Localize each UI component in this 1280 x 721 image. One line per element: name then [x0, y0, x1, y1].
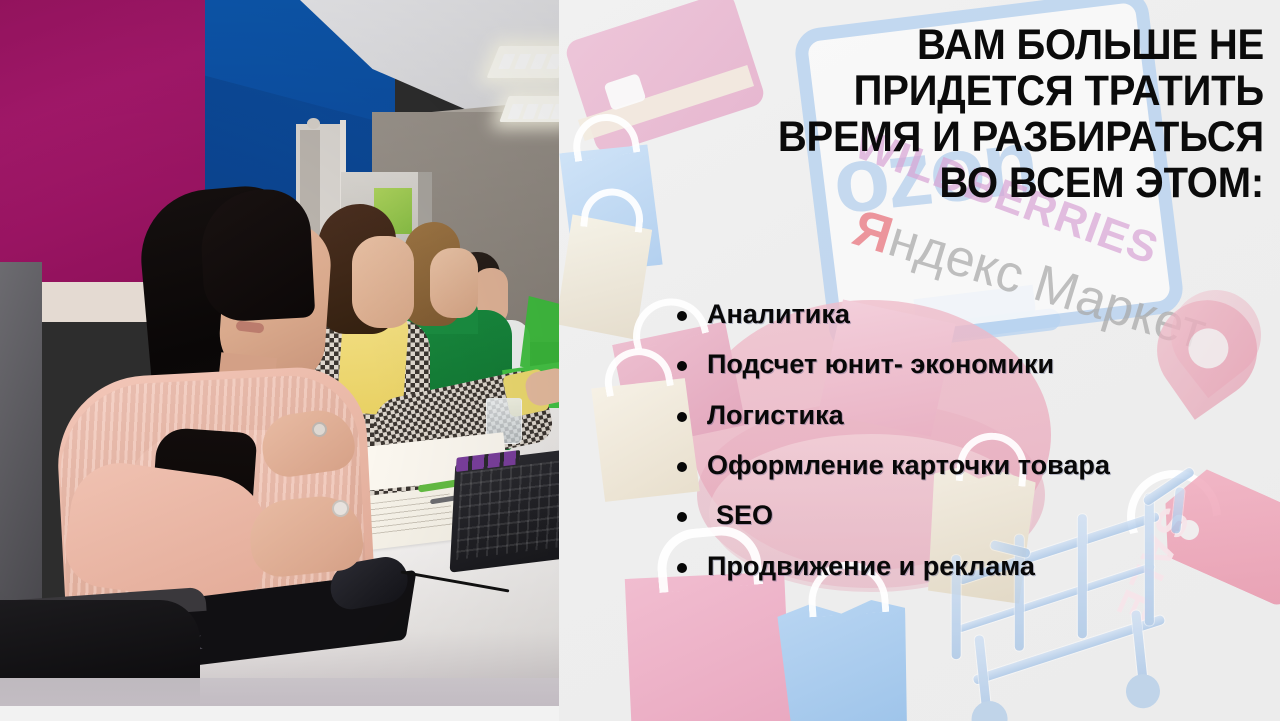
title-line-3: ВРЕМЯ И РАЗБИРАТЬСЯ: [720, 114, 1264, 160]
slide-root: uucc ozon WILDBERRIES Яндекс Маркет: [0, 0, 1280, 721]
list-item: Подсчет юнит- экономики: [671, 350, 1271, 378]
shopping-bag-blue-2-icon: [777, 598, 914, 721]
list-item: Логистика: [671, 401, 1271, 429]
title-line-2: ПРИДЕТСЯ ТРАТИТЬ: [720, 68, 1264, 114]
page-title: ВАМ БОЛЬШЕ НЕ ПРИДЕТСЯ ТРАТИТЬ ВРЕМЯ И Р…: [720, 22, 1264, 206]
list-item: Аналитика: [671, 300, 1271, 328]
title-line-4: ВО ВСЕМ ЭТОМ:: [720, 160, 1264, 206]
list-item: Оформление карточки товара: [671, 451, 1271, 479]
title-line-1: ВАМ БОЛЬШЕ НЕ: [720, 22, 1264, 68]
office-photo: uucc: [0, 0, 559, 706]
photo-vignette: [0, 0, 559, 706]
list-item: SEO: [671, 501, 1271, 529]
content-panel: ozon WILDBERRIES Яндекс Маркет SALE: [559, 0, 1280, 721]
feature-list: Аналитика Подсчет юнит- экономики Логист…: [671, 300, 1271, 602]
list-item: Продвижение и реклама: [671, 552, 1271, 580]
photo-bottom-edge: [0, 678, 559, 706]
